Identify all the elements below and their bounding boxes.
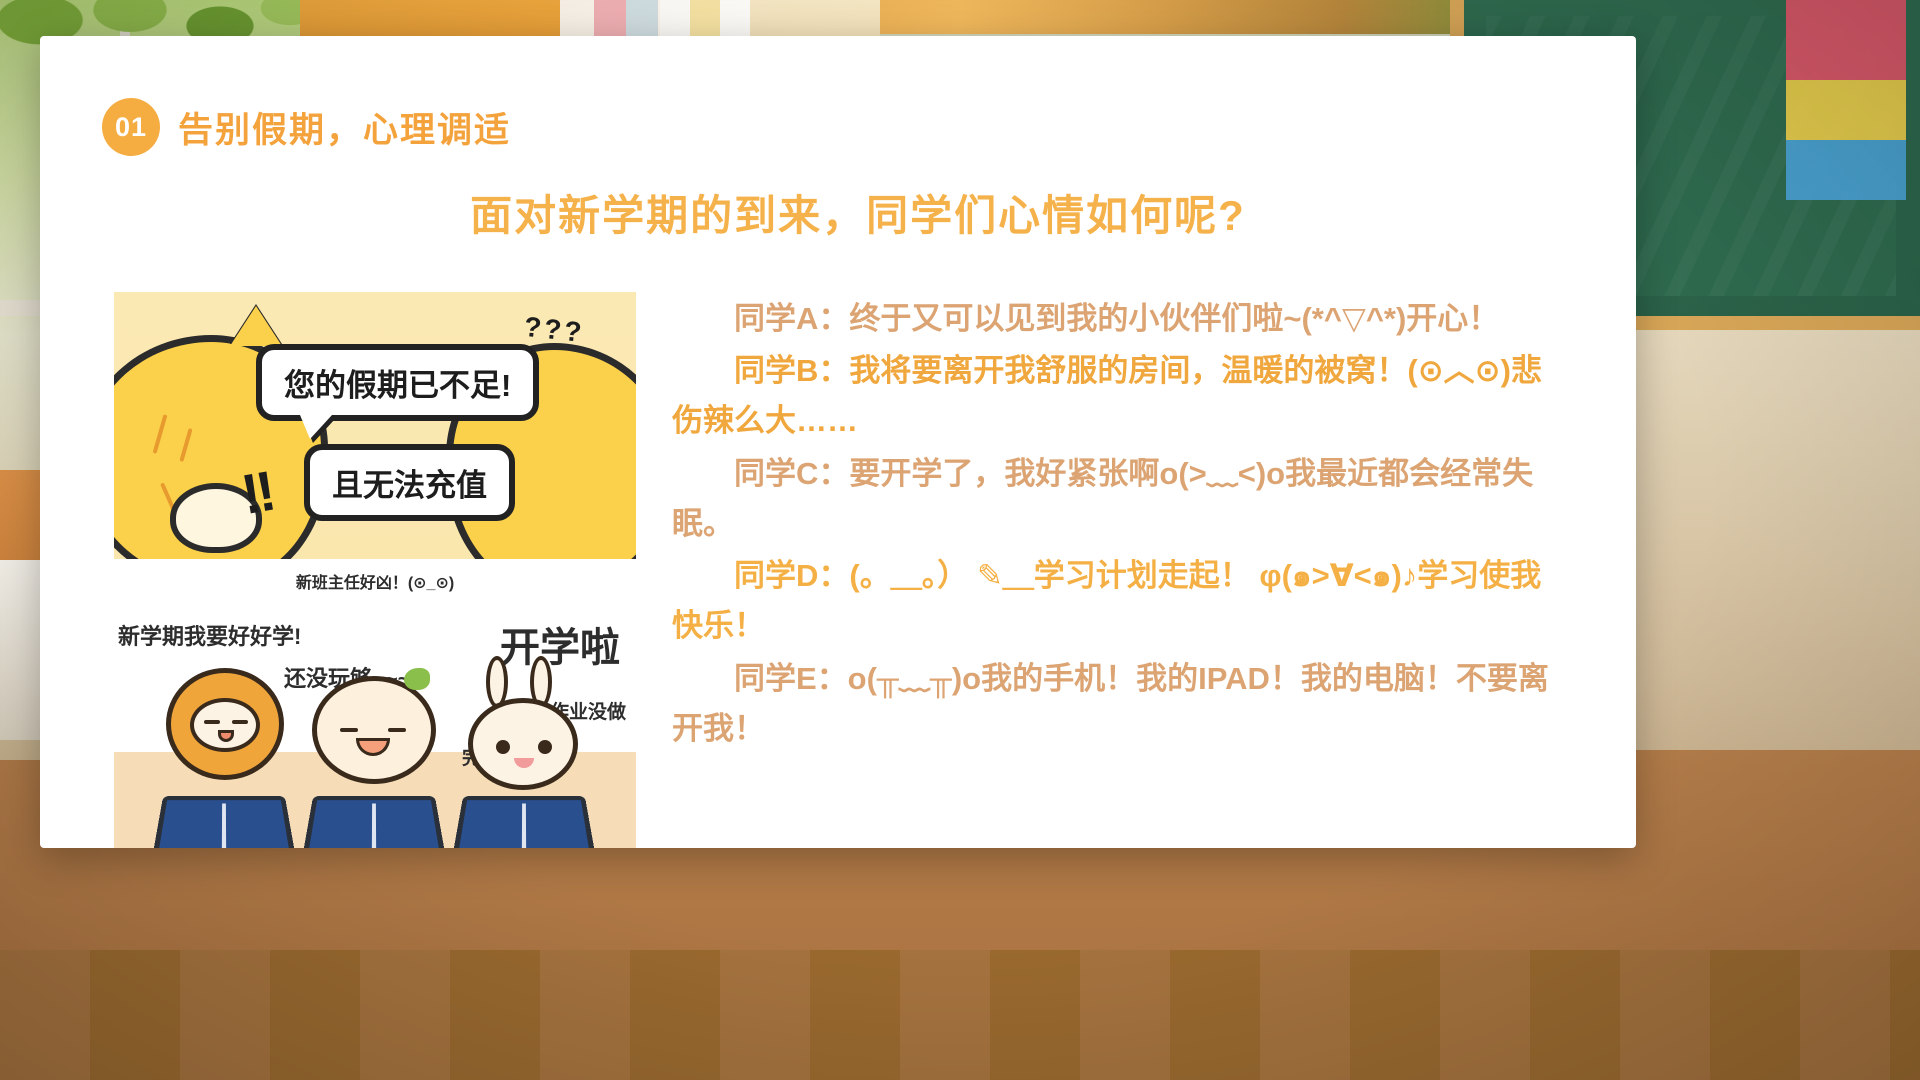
- student-quotes-list: 同学A：终于又可以见到我的小伙伴们啦~(*^▽^*)开心！ 同学B：我将要离开我…: [672, 294, 1572, 756]
- tiger-face-icon: [190, 698, 260, 752]
- page-title: 面对新学期的到来，同学们心情如何呢?: [40, 182, 1636, 243]
- section-header: 01 告别假期，心理调适: [102, 98, 511, 156]
- cat-meme-illustration: ??? 您的假期已不足! !! 且无法充值: [114, 292, 636, 559]
- book-icon: [452, 796, 596, 848]
- eye-icon: [340, 728, 358, 732]
- quote-item-e: 同学E：o(╥﹏╥)o我的手机！我的IPAD！我的电脑！不要离开我！: [672, 654, 1572, 754]
- question-marks-icon: ???: [522, 311, 585, 349]
- speech-bubble-primary: 您的假期已不足!: [256, 344, 539, 421]
- slide-card: 01 告别假期，心理调适 面对新学期的到来，同学们心情如何呢? ??? 您的假期…: [40, 36, 1636, 848]
- quote-item-d: 同学D：(。＿。） ✎＿学习计划走起！ φ(๑>∀<๑)♪学习使我快乐！: [672, 551, 1572, 651]
- book-icon: [302, 796, 446, 848]
- study-caption-3: 开学啦: [500, 615, 620, 673]
- speech-bubble-secondary: 且无法充值: [304, 444, 515, 521]
- students-reading-illustration: 新学期我要好好学! 还没玩够~~~ 开学啦 作业没做 完了完了好了: [114, 597, 636, 848]
- quote-item-a: 同学A：终于又可以见到我的小伙伴们啦~(*^▽^*)开心！: [672, 294, 1572, 344]
- quote-item-b: 同学B：我将要离开我舒服的房间，温暖的被窝！(⊙︿⊙)悲伤辣么大……: [672, 346, 1572, 446]
- bun-head-icon: [312, 676, 436, 784]
- student-figure-rabbit: [452, 674, 602, 848]
- illustration-column: ??? 您的假期已不足! !! 且无法充值 新班主任好凶！(⊙_⊙) 新学期我要…: [114, 292, 636, 848]
- eye-icon: [538, 740, 552, 754]
- student-figure-bun: [300, 672, 450, 848]
- eye-icon: [204, 720, 220, 724]
- quote-item-c: 同学C：要开学了，我好紧张啊o(>﹏<)o我最近都会经常失眠。: [672, 449, 1572, 549]
- cat-left-ear-icon: [230, 306, 282, 346]
- eye-icon: [232, 720, 248, 724]
- leaf-icon: [404, 668, 430, 690]
- study-caption-1: 新学期我要好好学!: [118, 619, 301, 651]
- student-figure-tiger: [152, 668, 302, 848]
- section-number-badge: 01: [102, 98, 160, 156]
- eye-icon: [388, 728, 406, 732]
- eye-icon: [496, 740, 510, 754]
- rabbit-head-icon: [468, 698, 578, 790]
- book-icon: [152, 796, 296, 848]
- section-title: 告别假期，心理调适: [178, 102, 511, 153]
- meme-caption: 新班主任好凶！(⊙_⊙): [114, 559, 636, 597]
